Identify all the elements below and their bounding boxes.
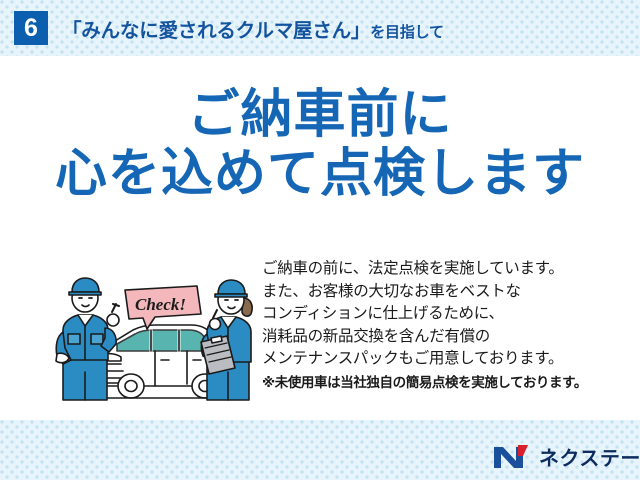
female-mechanic-figure [201, 280, 252, 400]
body-copy-line: ご納車の前に、法定点検を実施しています。 [262, 258, 628, 281]
body-copy-line: 消耗品の新品交換を含んだ有償の [262, 326, 628, 349]
headline-line-2: 心を込めて点検します [0, 147, 640, 202]
body-copy-line: メンテナンスパックもご用意しております。 [262, 348, 628, 371]
body-copy-line: コンディションに仕上げるために、 [262, 303, 628, 326]
headline: ご納車前に 心を込めて点検します [0, 88, 640, 202]
check-bubble-label: Check! [135, 295, 186, 314]
promo-panel: 6 「みんなに愛されるクルマ屋さん」 を目指して ご納車前に 心を込めて点検しま… [0, 0, 640, 480]
brand-logo: ネクステージ [492, 441, 640, 471]
body-copy-line: また、お客様の大切なお車をベストな [262, 281, 628, 304]
header-title: 「みんなに愛されるクルマ屋さん」 を目指して [62, 14, 444, 43]
header-title-main: 「みんなに愛されるクルマ屋さん」 [62, 14, 370, 43]
header-title-suffix: を目指して [370, 21, 444, 42]
header: 6 「みんなに愛されるクルマ屋さん」 を目指して [0, 0, 640, 56]
body-copy: ご納車の前に、法定点検を実施しています。 また、お客様の大切なお車をベストな コ… [262, 258, 628, 393]
headline-line-1: ご納車前に [0, 88, 640, 143]
brand-name: ネクステージ [539, 442, 640, 471]
step-number-badge: 6 [14, 11, 48, 45]
nextage-n-icon [492, 443, 532, 470]
body-copy-note: ※未使用車は当社独自の簡易点検を実施しております。 [262, 373, 628, 393]
mechanics-illustration: Check! [55, 268, 260, 408]
